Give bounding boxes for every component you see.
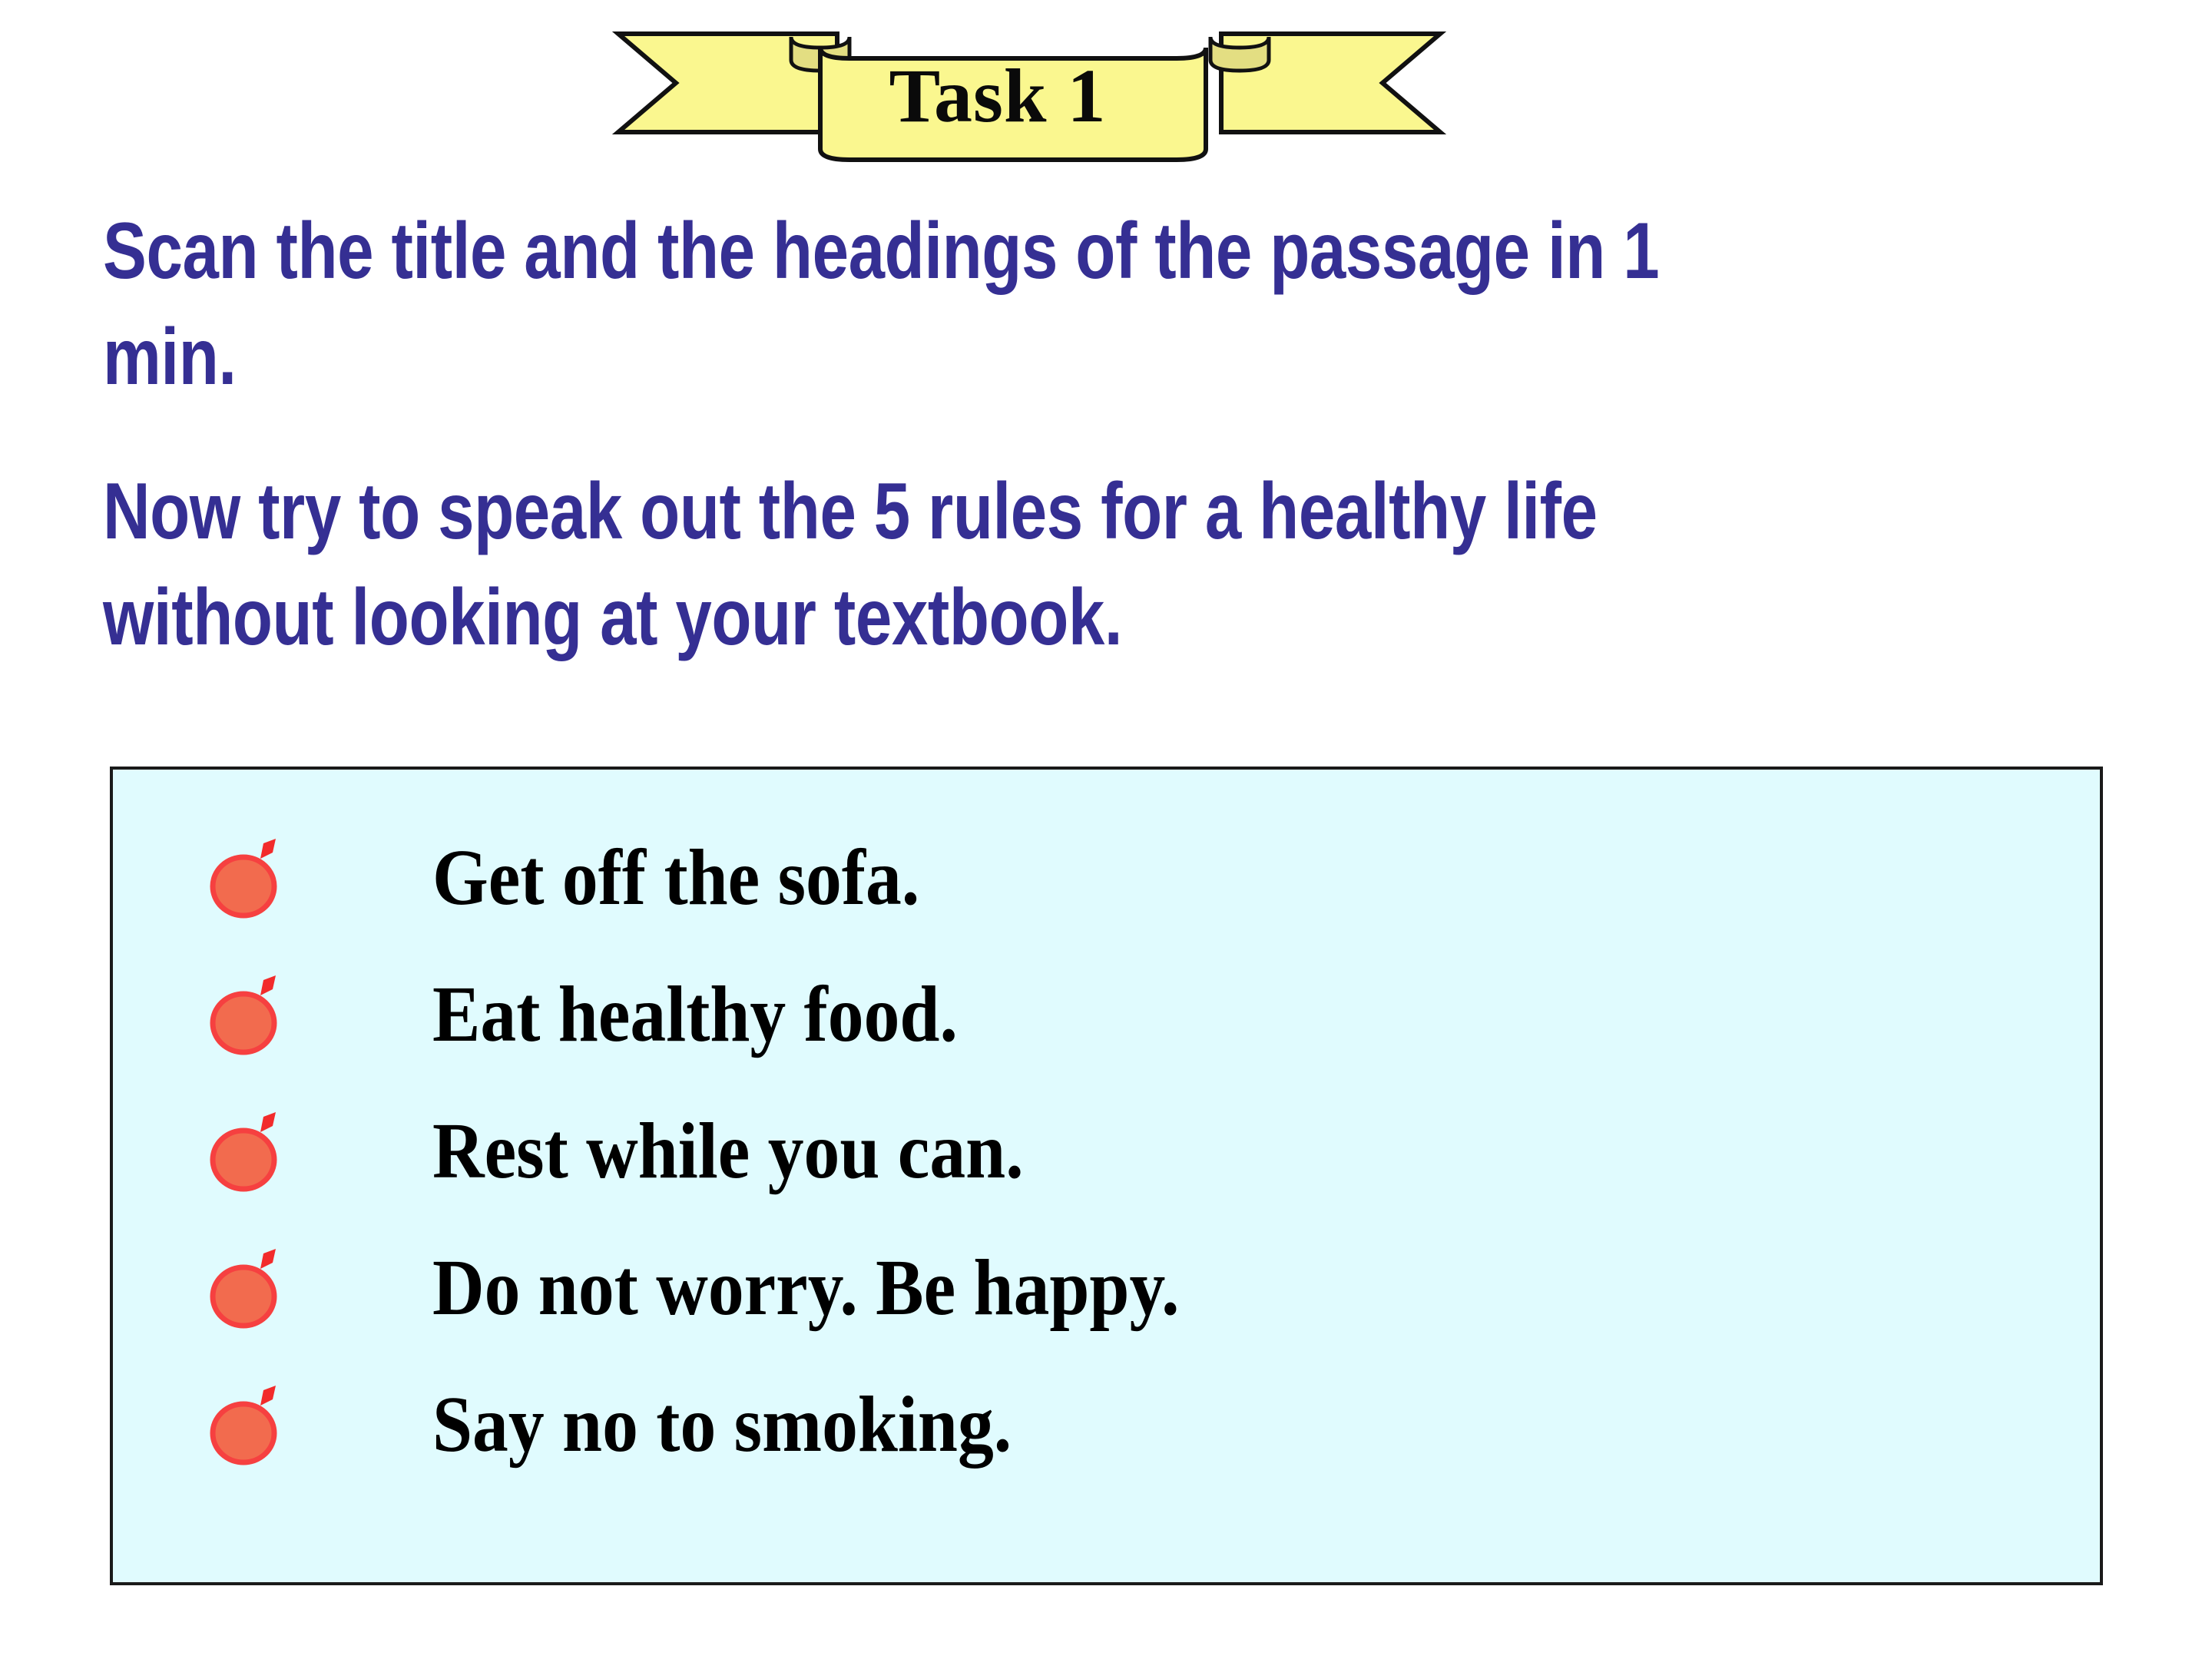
tomato-bullet-icon <box>207 1109 290 1194</box>
tomato-bullet-icon <box>207 836 290 920</box>
rule-text: Rest while you can. <box>432 1111 1024 1191</box>
instruction-paragraph-2: Now try to speak out the 5 rules for a h… <box>103 459 1766 671</box>
slide-canvas: Task 1 Scan the title and the headings o… <box>0 0 2212 1659</box>
instruction-paragraph-1: Scan the title and the headings of the p… <box>103 198 1766 411</box>
list-item: Rest while you can. <box>113 1083 2100 1220</box>
rule-text: Do not worry. Be happy. <box>432 1248 1180 1328</box>
list-item: Do not worry. Be happy. <box>113 1220 2100 1356</box>
rule-text: Eat healthy food. <box>432 975 958 1055</box>
list-item: Get off the sofa. <box>113 810 2100 946</box>
ribbon-graphic <box>607 14 1452 175</box>
task-banner: Task 1 <box>607 14 1452 175</box>
rules-list: Get off the sofa. Eat healthy food. Rest… <box>113 770 2100 1493</box>
ribbon-center-panel <box>820 48 1206 160</box>
tomato-bullet-icon <box>207 1246 290 1330</box>
list-item: Eat healthy food. <box>113 946 2100 1083</box>
tomato-bullet-icon <box>207 972 290 1057</box>
list-item: Say no to smoking. <box>113 1356 2100 1493</box>
rules-box: Get off the sofa. Eat healthy food. Rest… <box>110 767 2103 1585</box>
rule-text: Get off the sofa. <box>432 838 919 918</box>
ribbon-panel-top-curl <box>820 48 1206 58</box>
rule-text: Say no to smoking. <box>432 1385 1012 1465</box>
instructions-block: Scan the title and the headings of the p… <box>103 198 2131 671</box>
tomato-bullet-icon <box>207 1382 290 1467</box>
